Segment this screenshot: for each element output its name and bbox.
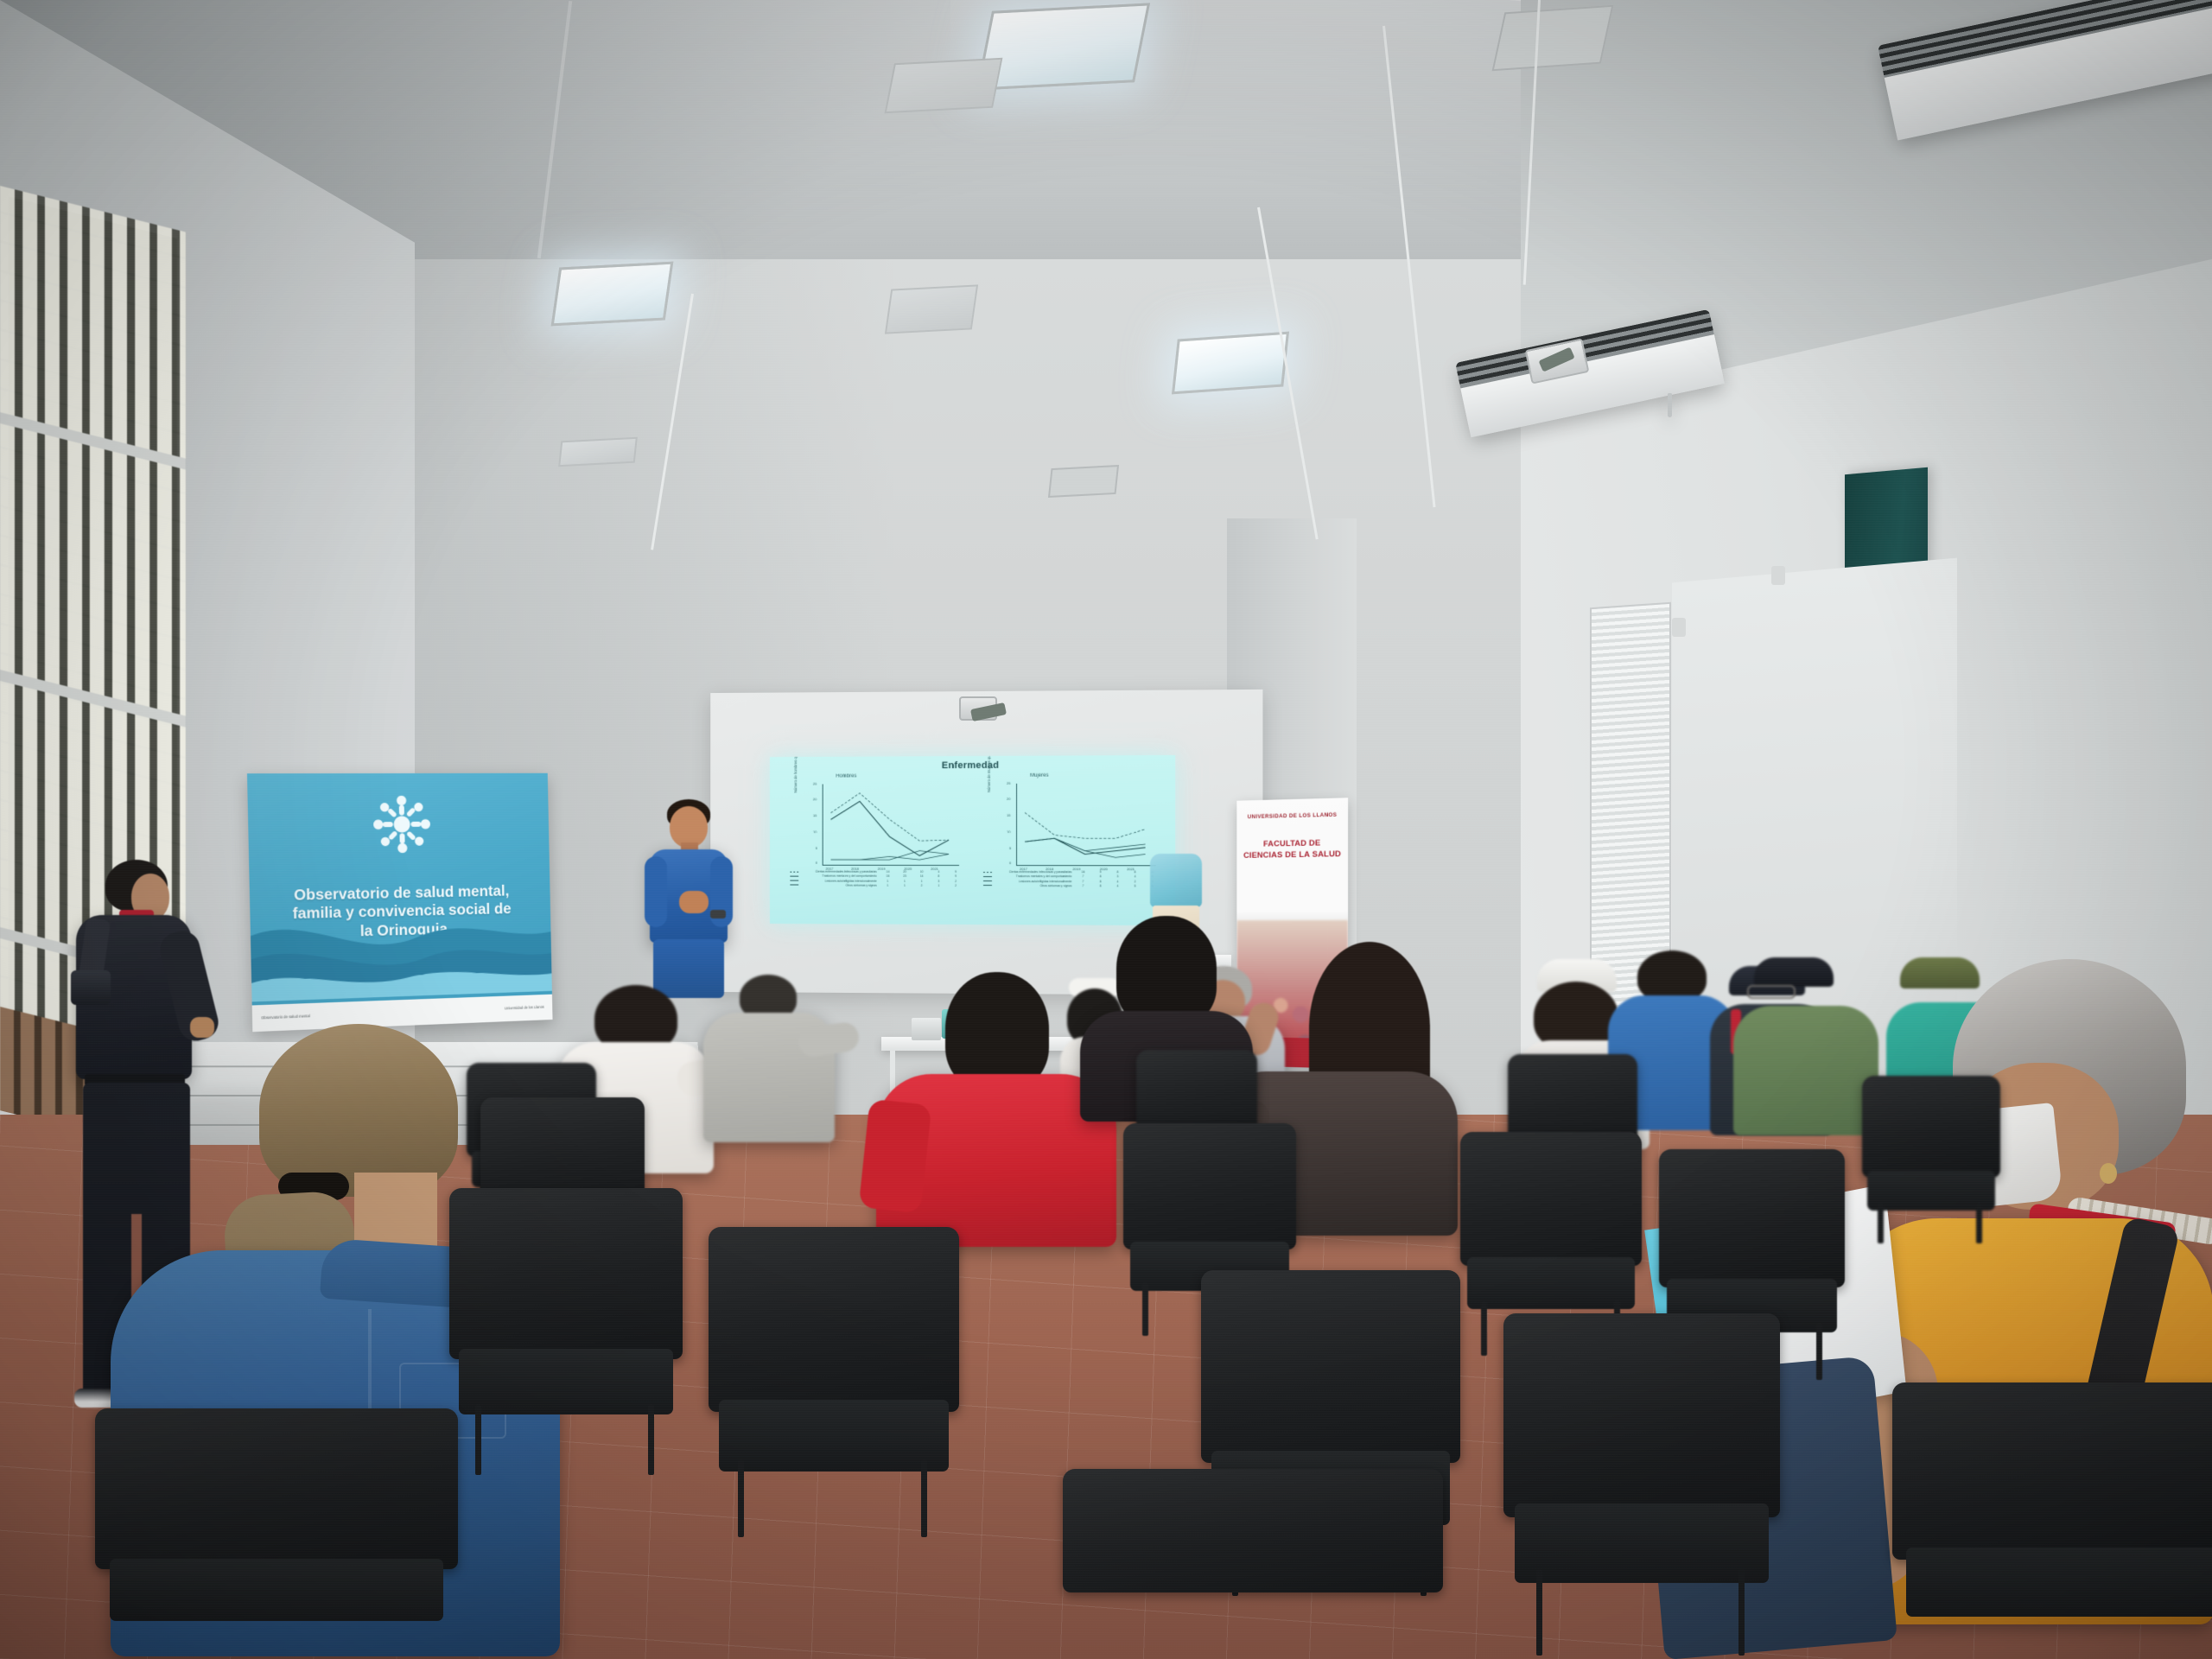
x-axis (823, 865, 959, 866)
legend-value: 1 (880, 884, 897, 888)
chair[interactable] (1503, 1313, 1780, 1642)
chair-seat (719, 1400, 950, 1471)
y-axis-label-mujeres: Número de mujeres que consultaron a la r… (987, 755, 991, 792)
legend-table-mujeres: Ciertas enfermedades infecciosas y paras… (983, 870, 1161, 889)
panel-label-hombres: Hombres (836, 773, 856, 779)
chair-seat (459, 1349, 673, 1415)
chair-back (709, 1227, 959, 1412)
chair-leg (1536, 1569, 1542, 1656)
chart-panel-mujeres: Mujeres Número de mujeres que consultaro… (980, 772, 1161, 921)
chair-leg (1976, 1204, 1982, 1243)
chair[interactable] (1862, 1076, 2000, 1240)
ceiling-panel-off (885, 284, 978, 334)
faculty-line-2: CIENCIAS DE LA SALUD (1236, 849, 1348, 861)
attendee-hair (945, 972, 1049, 1090)
camera-icon (71, 970, 111, 1005)
chair-back (1659, 1149, 1845, 1287)
ceiling-light-panel (976, 3, 1150, 90)
y-tick: 5 (816, 846, 817, 850)
legend-row: Otros síntomas y signos 1 1 2 1 2 (790, 883, 964, 888)
y-tick: 25 (813, 782, 817, 786)
line-chart-mujeres (1018, 785, 1156, 863)
presenter-arm-left (645, 856, 667, 927)
chair-leg (1142, 1282, 1148, 1336)
water-cooler-bottle (1150, 854, 1202, 907)
chair[interactable] (449, 1188, 683, 1465)
banner-footer-left: Observatorio de salud mental (261, 1014, 309, 1021)
chair-leg (921, 1459, 927, 1537)
chair[interactable] (95, 1408, 458, 1659)
conference-room-photo: Enfermedad Hombres Número de hombres que… (0, 0, 2212, 1659)
sprinkler-icon (1771, 566, 1785, 585)
y-tick: 0 (816, 861, 817, 865)
legend-key-solid (983, 884, 993, 888)
banner-faculty-name: FACULTAD DE CIENCIAS DE LA SALUD (1236, 837, 1348, 861)
legend-row: Otros síntomas y signos 7 8 4 5 6 (983, 884, 1161, 889)
chair-back (1892, 1382, 2212, 1560)
attendee-grey-shirt (691, 975, 847, 1156)
chair-leg (648, 1404, 654, 1475)
y-tick: 15 (1007, 813, 1010, 817)
earring-icon (2100, 1163, 2117, 1184)
banner-observatorio: Observatorio de salud mental, familia y … (247, 773, 553, 1032)
chair[interactable] (709, 1227, 959, 1525)
y-axis (823, 785, 823, 865)
legend-value: 4 (1109, 884, 1126, 888)
legend-value: 2 (947, 884, 964, 888)
y-tick: 20 (1007, 797, 1010, 801)
chair-leg (1878, 1204, 1884, 1243)
chair-back (1063, 1469, 1443, 1592)
chair-leg (738, 1459, 744, 1537)
banner-footer-right: Universidad de los Llanos (505, 1005, 544, 1011)
legend-value: 7 (1074, 884, 1091, 888)
y-tick: 15 (813, 813, 817, 817)
observatorio-logo-icon (364, 787, 439, 862)
ceiling-light-panel (551, 262, 674, 327)
x-axis (1016, 865, 1156, 866)
legend-value: 2 (913, 884, 931, 888)
banner-university-name: UNIVERSIDAD DE LOS LLANOS (1236, 811, 1348, 821)
chair-leg (1816, 1323, 1822, 1380)
y-axis (1016, 784, 1017, 865)
chair-seat (110, 1559, 443, 1621)
screen-bracket-icon (959, 696, 997, 721)
ceiling-access-hatch (1048, 465, 1119, 498)
banner-waves-decoration (247, 898, 553, 1002)
chair-back (1201, 1270, 1460, 1463)
chair-back (95, 1408, 458, 1569)
legend-value: 1 (931, 884, 948, 888)
legend-label: Otros síntomas y signos (799, 883, 879, 887)
chair-seat (1906, 1548, 2212, 1616)
ac-drain-pipe (1668, 393, 1672, 417)
legend-label: Otros síntomas y signos (993, 884, 1074, 889)
legend-value: 5 (1127, 884, 1144, 888)
chair-back (1123, 1123, 1296, 1249)
attendee-hair (1116, 916, 1217, 1025)
y-tick: 10 (1007, 829, 1010, 834)
chair[interactable] (1892, 1382, 2212, 1659)
presenter-watch (710, 910, 726, 918)
chair-back (1862, 1076, 2000, 1178)
ceiling-panel-off (885, 58, 1003, 113)
chair-back (449, 1188, 683, 1359)
legend-value: 1 (896, 884, 913, 888)
y-tick: 5 (1009, 846, 1011, 850)
presenter-head (670, 806, 708, 848)
chair-leg (475, 1404, 481, 1475)
y-tick: 20 (813, 797, 817, 801)
chair-seat (1467, 1257, 1634, 1309)
sprinkler-icon (1672, 618, 1686, 637)
chair-leg (1481, 1300, 1487, 1356)
ceiling-light-panel (1172, 332, 1289, 395)
panel-label-mujeres: Mujeres (1030, 773, 1048, 779)
attendee-arm (859, 1099, 932, 1214)
ceiling-access-hatch (1492, 5, 1614, 71)
y-tick: 25 (1007, 781, 1010, 785)
line-chart-hombres (824, 785, 959, 863)
y-tick: 10 (813, 829, 817, 834)
chair-back (1503, 1313, 1780, 1517)
ceiling-panel-off (558, 437, 638, 467)
slide-title: Enfermedad (770, 760, 1175, 772)
denim-hair-bun (259, 1024, 458, 1197)
legend-value: 8 (1091, 884, 1109, 888)
y-tick: 0 (1009, 861, 1011, 865)
chair[interactable] (1063, 1469, 1443, 1659)
chair-back (1460, 1132, 1642, 1266)
presenter (639, 799, 739, 998)
legend-table-hombres: Ciertas enfermedades infecciosas y paras… (790, 870, 964, 888)
y-axis-label-hombres: Número de hombres que consultaron la red… (793, 755, 798, 793)
chart-panel-hombres: Hombres Número de hombres que consultaro… (786, 773, 964, 920)
presenter-hands (679, 891, 709, 913)
legend-key-solid (790, 883, 799, 887)
projected-slide: Enfermedad Hombres Número de hombres que… (770, 755, 1175, 925)
chair-seat (1515, 1503, 1769, 1582)
chair-leg (1738, 1569, 1745, 1656)
